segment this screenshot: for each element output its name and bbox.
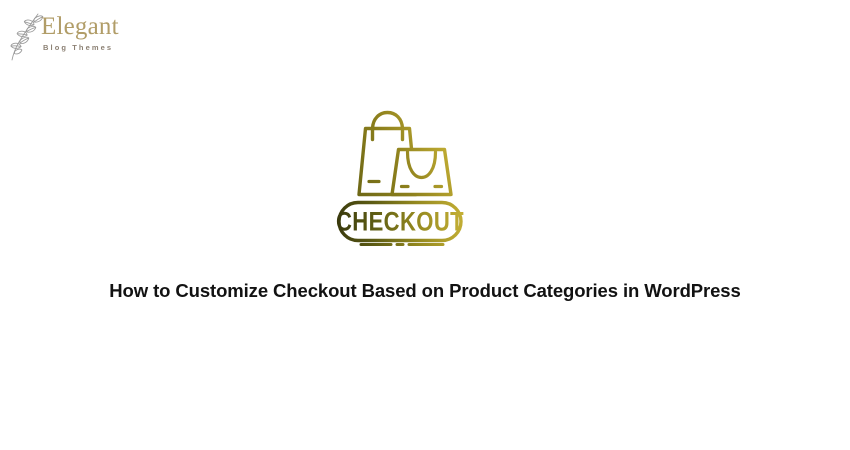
shopping-bags-checkout-icon: CHECKOUT	[325, 96, 475, 246]
brand-name: Elegant	[41, 14, 136, 40]
article-title: How to Customize Checkout Based on Produ…	[0, 278, 850, 304]
leaf-branch-icon	[8, 12, 44, 62]
brand-wordmark: Elegant Blog Themes	[41, 14, 136, 53]
checkout-button-label: CHECKOUT	[336, 208, 464, 237]
brand-tagline: Blog Themes	[43, 42, 136, 53]
brand-logo[interactable]: Elegant Blog Themes	[8, 12, 138, 66]
